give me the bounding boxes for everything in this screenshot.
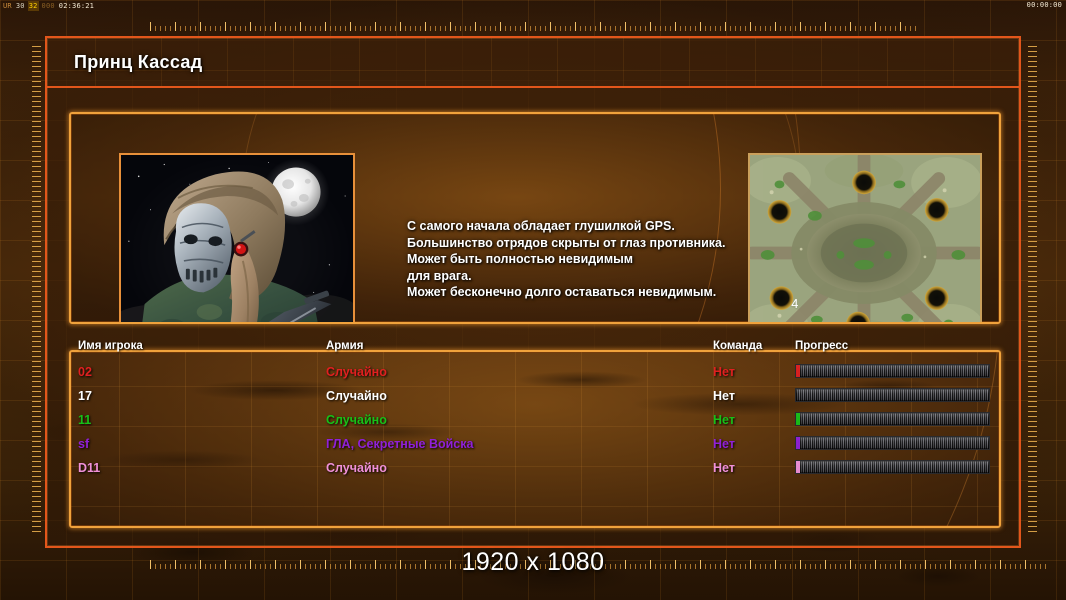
ruler-right — [1028, 46, 1037, 536]
column-header-progress: Прогресс — [795, 340, 848, 352]
progress-leading-marker — [796, 413, 800, 425]
player-name-cell: sf — [78, 436, 89, 452]
table-row[interactable]: D11СлучайноНет — [78, 460, 988, 484]
player-progress-bar — [795, 364, 990, 378]
player-team-cell: Нет — [713, 460, 735, 476]
player-army-cell: Случайно — [326, 412, 387, 428]
player-team-cell: Нет — [713, 364, 735, 380]
progress-leading-marker — [796, 461, 800, 473]
player-progress-bar — [795, 388, 990, 402]
player-progress-bar — [795, 412, 990, 426]
player-name-cell: 17 — [78, 388, 92, 404]
player-name-cell: 02 — [78, 364, 92, 380]
player-army-cell: Случайно — [326, 364, 387, 380]
table-row[interactable]: sfГЛА, Секретные ВойскаНет — [78, 436, 988, 460]
player-progress-bar — [795, 460, 990, 474]
status-fps-value: 30 — [15, 1, 26, 11]
status-bar-right-clock: 00:00:00 — [1027, 0, 1062, 11]
description-line: Может бесконечно долго оставаться невиди… — [407, 284, 807, 301]
resolution-label: 1920 x 1080 — [0, 548, 1066, 577]
status-frame-value: 32 — [28, 1, 39, 11]
player-table-header: Имя игрока Армия Команда Прогресс — [78, 340, 988, 356]
player-progress-bar — [795, 436, 990, 450]
table-row[interactable]: 11СлучайноНет — [78, 412, 988, 436]
ruler-top — [150, 22, 920, 31]
progress-leading-marker — [796, 437, 800, 449]
window-header: Принц Кассад — [47, 38, 1019, 88]
ruler-left — [32, 46, 41, 536]
table-row[interactable]: 17СлучайноНет — [78, 388, 988, 412]
status-clock: 02:36:21 — [58, 1, 95, 11]
status-zero-value: 000 — [41, 1, 56, 11]
description-line: для врага. — [407, 268, 807, 285]
status-ur-label: UR — [2, 1, 13, 11]
description-line: Большинство отрядов скрыты от глаз проти… — [407, 235, 807, 252]
column-header-team: Команда — [713, 340, 762, 352]
general-info-panel: С самого начала обладает глушилкой GPS. … — [69, 112, 1001, 324]
player-name-cell: D11 — [78, 460, 100, 476]
player-team-cell: Нет — [713, 388, 735, 404]
table-row[interactable]: 02СлучайноНет — [78, 364, 988, 388]
description-line: Может быть полностью невидимым — [407, 251, 807, 268]
progress-leading-marker — [796, 365, 800, 377]
status-bar: UR 30 32 000 02:36:21 00:00:00 — [0, 0, 1066, 11]
player-army-cell: Случайно — [326, 460, 387, 476]
player-army-cell: ГЛА, Секретные Войска — [326, 436, 473, 452]
player-army-cell: Случайно — [326, 388, 387, 404]
player-table-body: 02СлучайноНет17СлучайноНет11СлучайноНетs… — [78, 364, 988, 484]
status-bar-left: UR 30 32 000 02:36:21 — [0, 1, 95, 11]
player-team-cell: Нет — [713, 412, 735, 428]
player-team-cell: Нет — [713, 436, 735, 452]
spawn-position-label: 4 — [791, 296, 798, 311]
column-header-player-name: Имя игрока — [78, 340, 143, 352]
column-header-army: Армия — [326, 340, 363, 352]
general-description: С самого начала обладает глушилкой GPS. … — [407, 218, 807, 301]
game-lobby-screen: UR 30 32 000 02:36:21 00:00:00 Принц Кас… — [0, 0, 1066, 600]
map-preview[interactable]: 4 — [748, 153, 982, 324]
description-line: С самого начала обладает глушилкой GPS. — [407, 218, 807, 235]
player-name-cell: 11 — [78, 412, 91, 428]
page-title: Принц Кассад — [74, 52, 202, 73]
general-portrait — [119, 153, 355, 324]
